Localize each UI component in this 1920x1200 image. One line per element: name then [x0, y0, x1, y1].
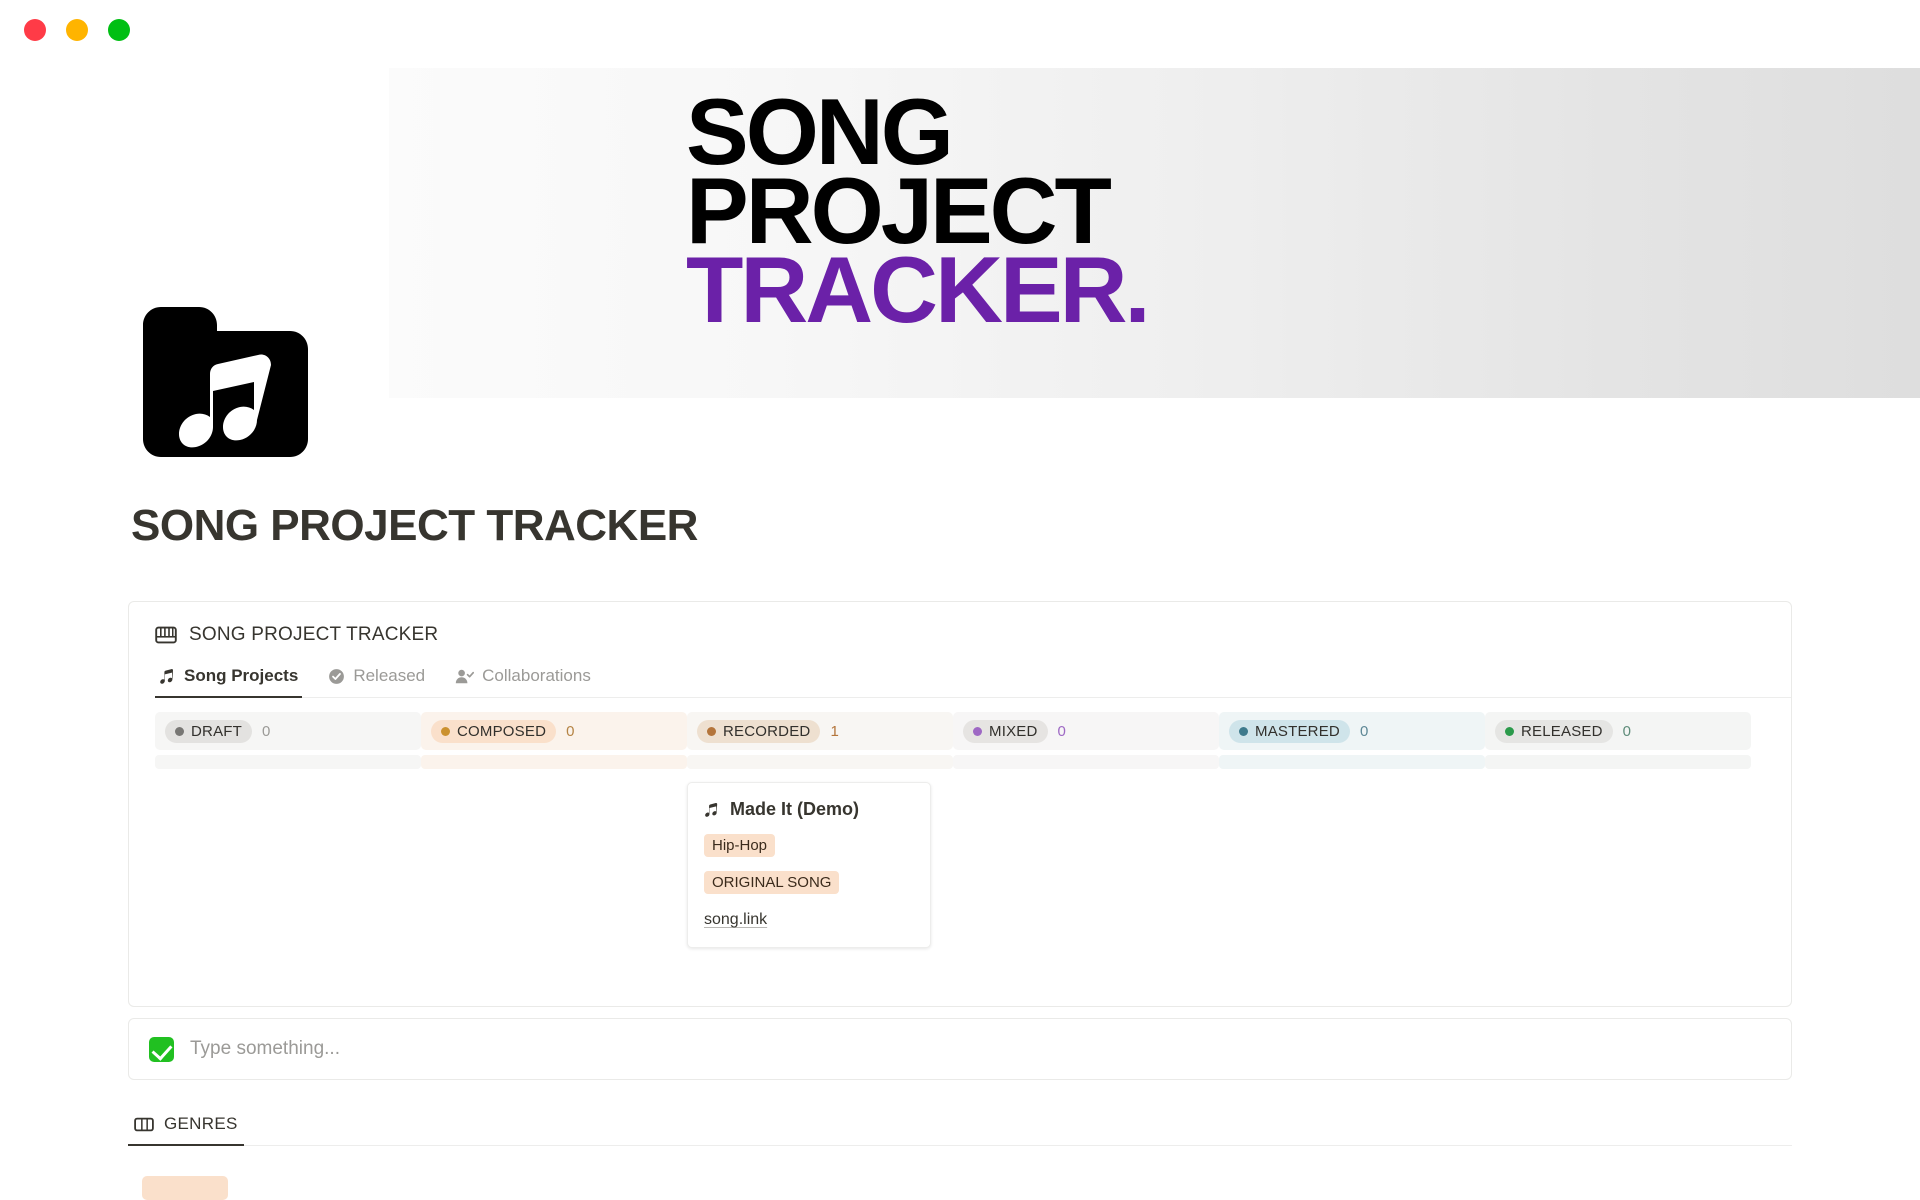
column-count: 0: [1058, 723, 1066, 740]
card-title-row: Made It (Demo): [704, 799, 914, 820]
window-titlebar: [0, 0, 1920, 60]
column-count: 0: [566, 723, 574, 740]
column-header[interactable]: RECORDED 1: [687, 712, 953, 750]
status-dot-icon: [441, 727, 450, 736]
piano-keyboard-icon: [155, 624, 177, 646]
status-badge: MIXED: [963, 720, 1048, 743]
database-title: SONG PROJECT TRACKER: [189, 624, 438, 646]
column-header[interactable]: COMPOSED 0: [421, 712, 687, 750]
status-badge: DRAFT: [165, 720, 252, 743]
tab-label: Released: [353, 666, 425, 686]
tab-label: GENRES: [164, 1114, 238, 1134]
tab-released[interactable]: Released: [324, 660, 429, 697]
composer-input-row[interactable]: Type something...: [128, 1018, 1792, 1080]
database-block: SONG PROJECT TRACKER Song Projects Relea…: [128, 601, 1792, 1007]
kanban-column-released: RELEASED 0: [1485, 712, 1751, 948]
status-label: MASTERED: [1255, 723, 1340, 740]
green-check-emoji-icon: [149, 1037, 174, 1062]
status-dot-icon: [175, 727, 184, 736]
window-zoom-button[interactable]: [108, 19, 130, 41]
tab-label: Collaborations: [482, 666, 591, 686]
status-label: DRAFT: [191, 723, 242, 740]
kanban-column-composed: COMPOSED 0: [421, 712, 687, 948]
status-label: MIXED: [989, 723, 1038, 740]
composer-placeholder: Type something...: [190, 1038, 340, 1060]
column-header[interactable]: DRAFT 0: [155, 712, 421, 750]
status-badge: COMPOSED: [431, 720, 556, 743]
window-minimize-button[interactable]: [66, 19, 88, 41]
traffic-light-group: [24, 19, 130, 41]
tab-genres[interactable]: GENRES: [128, 1110, 244, 1145]
kanban-column-recorded: RECORDED 1 Made It (Demo) Hip-Hop ORIGIN…: [687, 712, 953, 948]
column-header[interactable]: MIXED 0: [953, 712, 1219, 750]
kanban-column-mastered: MASTERED 0: [1219, 712, 1485, 948]
page-title: SONG PROJECT TRACKER: [131, 501, 698, 551]
page-cover-banner: SONG PROJECT TRACKER.: [389, 68, 1920, 398]
status-dot-icon: [1239, 727, 1248, 736]
column-header[interactable]: RELEASED 0: [1485, 712, 1751, 750]
music-note-icon: [159, 668, 176, 685]
column-count: 0: [262, 723, 270, 740]
music-folder-icon[interactable]: [143, 307, 308, 457]
tab-label: Song Projects: [184, 666, 298, 686]
card-title: Made It (Demo): [730, 799, 859, 820]
window-close-button[interactable]: [24, 19, 46, 41]
column-count: 1: [830, 723, 838, 740]
card-tag-type: ORIGINAL SONG: [704, 871, 839, 894]
card-tag-genre: Hip-Hop: [704, 834, 775, 857]
music-note-icon: [704, 802, 720, 818]
column-strip: [1219, 755, 1485, 769]
column-count: 0: [1360, 723, 1368, 740]
status-label: RECORDED: [723, 723, 810, 740]
banner-wordmark: SONG PROJECT TRACKER.: [686, 93, 1148, 330]
check-circle-icon: [328, 668, 345, 685]
status-badge: RELEASED: [1495, 720, 1613, 743]
kanban-column-draft: DRAFT 0: [155, 712, 421, 948]
column-strip: [155, 755, 421, 769]
status-label: COMPOSED: [457, 723, 546, 740]
column-count: 0: [1623, 723, 1631, 740]
genre-tag-preview: [142, 1176, 228, 1200]
column-strip: [421, 755, 687, 769]
person-check-icon: [455, 668, 474, 685]
status-label: RELEASED: [1521, 723, 1603, 740]
kanban-column-mixed: MIXED 0: [953, 712, 1219, 948]
status-badge: MASTERED: [1229, 720, 1350, 743]
status-dot-icon: [707, 727, 716, 736]
database-view-tabs: Song Projects Released Collaborations: [155, 660, 1791, 698]
kanban-board: DRAFT 0 COMPOSED 0 RECORDED: [155, 698, 1791, 948]
genres-view-tabs: GENRES: [128, 1110, 1792, 1146]
kanban-card[interactable]: Made It (Demo) Hip-Hop ORIGINAL SONG son…: [687, 782, 931, 948]
tab-song-projects[interactable]: Song Projects: [155, 660, 302, 697]
column-strip: [687, 755, 953, 769]
tab-collaborations[interactable]: Collaborations: [451, 660, 595, 697]
column-strip: [953, 755, 1219, 769]
board-columns-icon: [134, 1116, 154, 1133]
status-dot-icon: [1505, 727, 1514, 736]
card-link[interactable]: song.link: [704, 911, 914, 929]
database-header: SONG PROJECT TRACKER: [129, 602, 1791, 646]
banner-line-3: TRACKER.: [686, 251, 1148, 330]
status-dot-icon: [973, 727, 982, 736]
column-header[interactable]: MASTERED 0: [1219, 712, 1485, 750]
column-strip: [1485, 755, 1751, 769]
status-badge: RECORDED: [697, 720, 820, 743]
